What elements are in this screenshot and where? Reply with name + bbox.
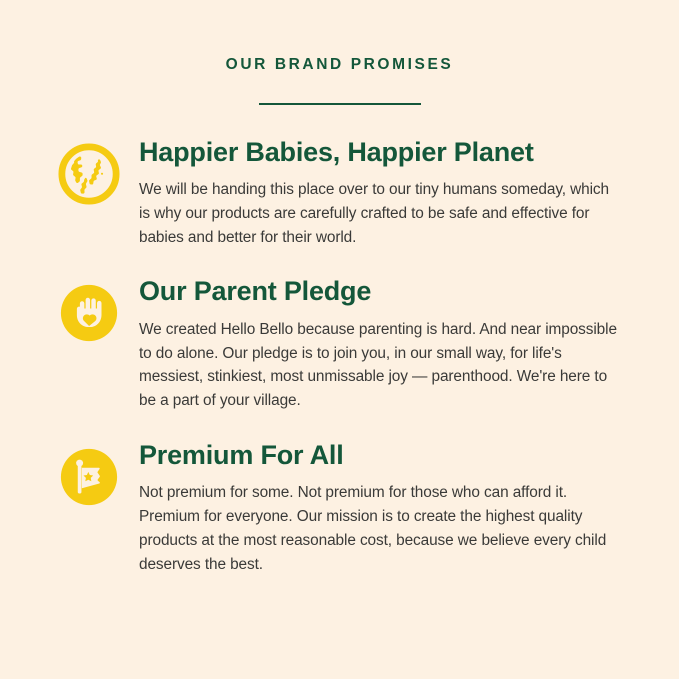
- promise-title: Happier Babies, Happier Planet: [139, 137, 631, 167]
- promises-list: Happier Babies, Happier Planet We will b…: [0, 137, 679, 577]
- promise-title: Our Parent Pledge: [139, 276, 631, 306]
- promise-description: We created Hello Bello because parenting…: [139, 318, 621, 414]
- promise-item: Our Parent Pledge We created Hello Bello…: [58, 276, 631, 413]
- promise-description: Not premium for some. Not premium for th…: [139, 481, 621, 577]
- promise-item: Happier Babies, Happier Planet We will b…: [58, 137, 631, 250]
- brand-promises-page: OUR BRAND PROMISES: [0, 0, 679, 679]
- globe-icon: [58, 143, 120, 205]
- page-title: OUR BRAND PROMISES: [0, 56, 679, 75]
- hand-heart-icon: [58, 282, 120, 344]
- page-header: OUR BRAND PROMISES: [0, 0, 679, 105]
- header-divider: [259, 103, 421, 105]
- flag-star-icon: [58, 446, 120, 508]
- promise-content: Premium For All Not premium for some. No…: [139, 440, 631, 577]
- promise-content: Our Parent Pledge We created Hello Bello…: [139, 276, 631, 413]
- promise-description: We will be handing this place over to ou…: [139, 178, 621, 250]
- promise-title: Premium For All: [139, 440, 631, 470]
- promise-content: Happier Babies, Happier Planet We will b…: [139, 137, 631, 250]
- promise-item: Premium For All Not premium for some. No…: [58, 440, 631, 577]
